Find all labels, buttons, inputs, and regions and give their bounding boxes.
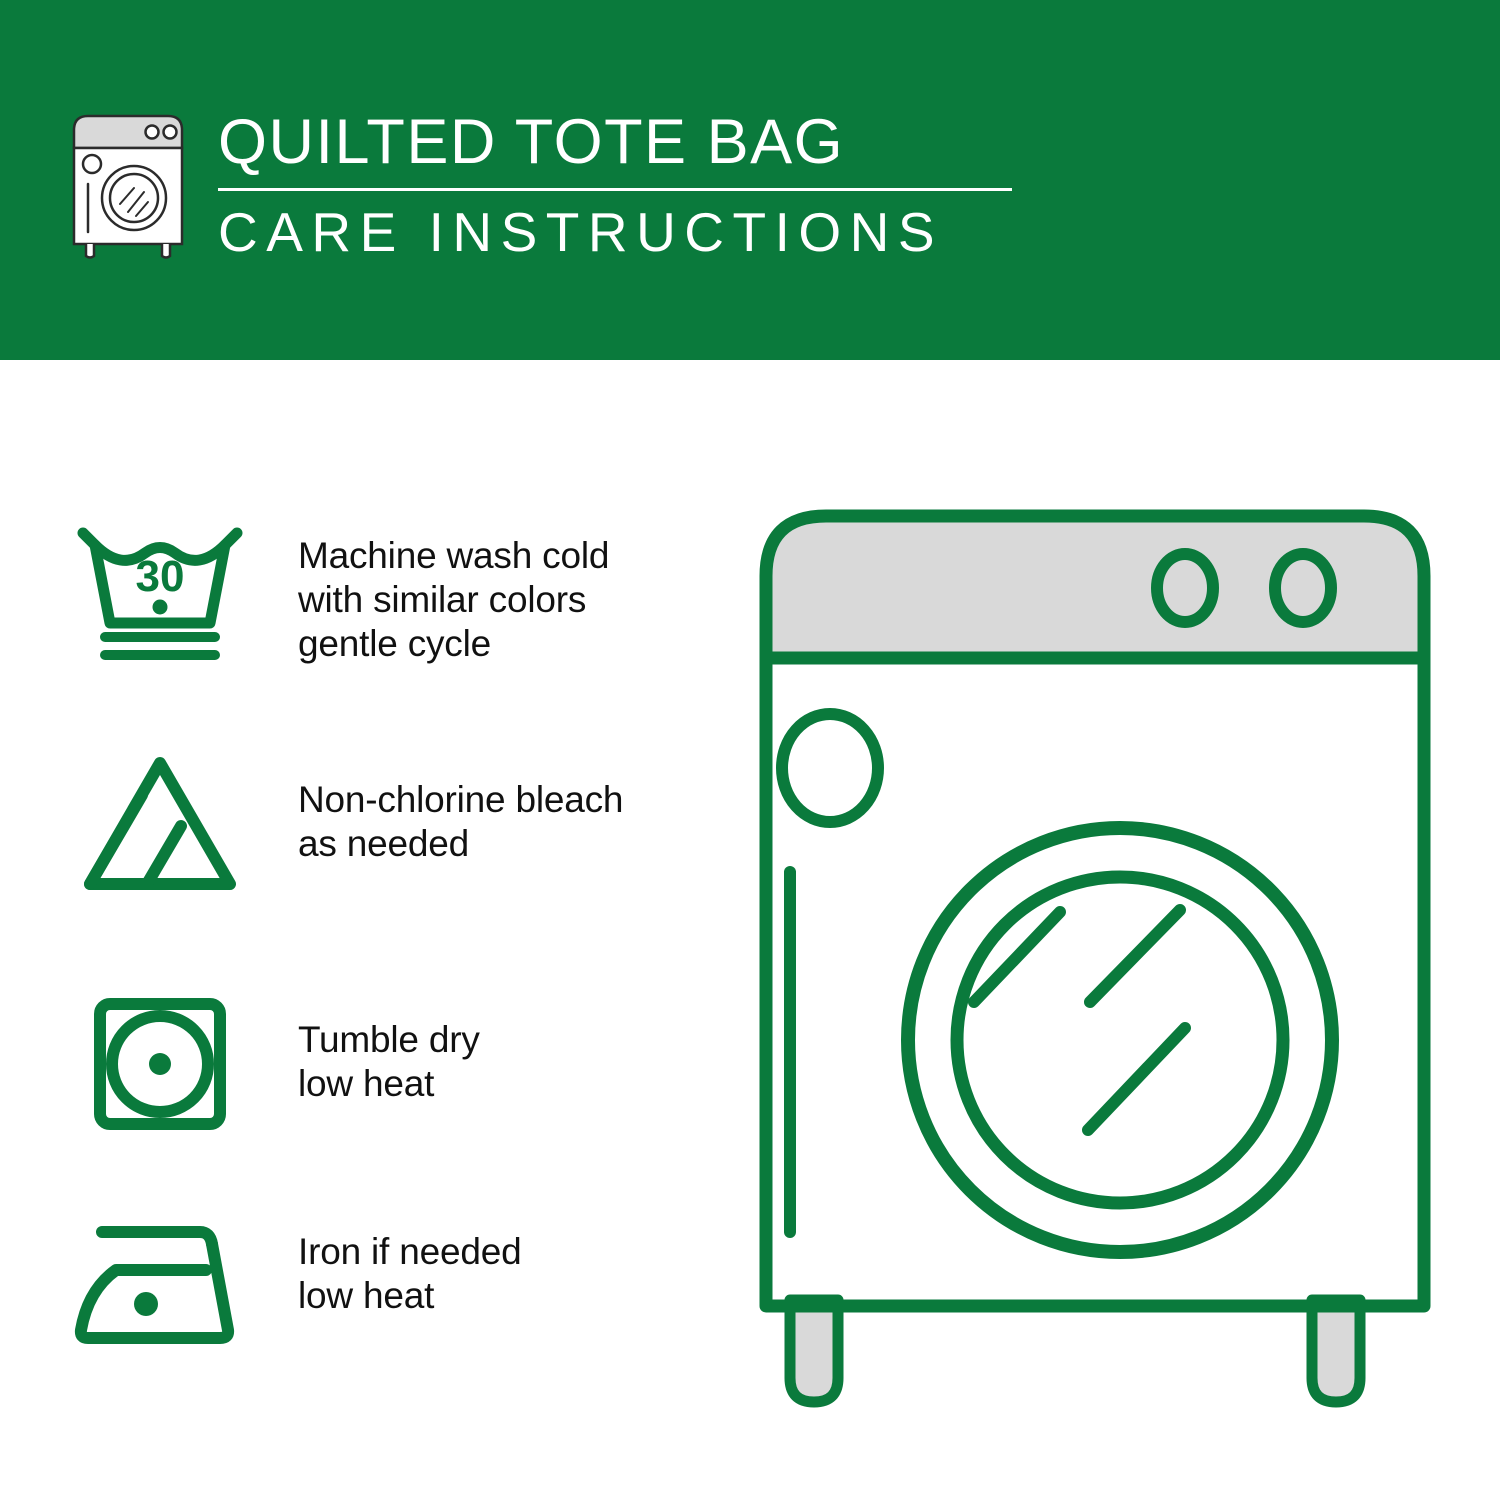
machine-wash-tub-icon: 30 [60,508,260,680]
page-header: QUILTED TOTE BAG CARE INSTRUCTIONS [0,0,1500,360]
detergent-dispenser [782,714,878,822]
non-chlorine-bleach-triangle-icon [60,738,260,910]
washing-machine-illustration [730,480,1460,1430]
care-line: Machine wash cold [298,534,609,578]
page-title: QUILTED TOTE BAG [218,106,1018,178]
care-instructions-page: QUILTED TOTE BAG CARE INSTRUCTIONS 30 [0,0,1500,1500]
care-line: low heat [298,1062,480,1106]
care-row-machine-wash: 30 Machine wash cold with similar colors… [0,508,720,680]
care-row-iron: Iron if needed low heat [0,1198,720,1370]
care-line: gentle cycle [298,622,609,666]
tumble-dry-icon [60,978,260,1150]
care-row-tumble-dry: Tumble dry low heat [0,978,720,1150]
iron-icon [60,1198,260,1370]
care-line: Iron if needed [298,1230,521,1274]
care-row-bleach: Non-chlorine bleach as needed [0,738,720,910]
care-line: Non-chlorine bleach [298,778,623,822]
leg-left [790,1300,838,1402]
care-label-machine-wash: Machine wash cold with similar colors ge… [298,534,609,666]
page-subtitle: CARE INSTRUCTIONS [218,199,1018,265]
title-divider [218,188,1012,191]
door-outer-ring [908,828,1332,1252]
door-inner-ring [957,877,1283,1203]
care-line: as needed [298,822,623,866]
care-line: low heat [298,1274,521,1318]
care-label-bleach: Non-chlorine bleach as needed [298,778,623,866]
care-label-tumble-dry: Tumble dry low heat [298,1018,480,1106]
care-line: Tumble dry [298,1018,480,1062]
wash-temp-value: 30 [136,552,185,601]
leg-right [1312,1300,1360,1402]
care-instructions-list: 30 Machine wash cold with similar colors… [0,360,720,1500]
door-shine-lines [974,910,1185,1130]
header-text-block: QUILTED TOTE BAG CARE INSTRUCTIONS [218,106,1018,265]
care-label-iron: Iron if needed low heat [298,1230,521,1318]
washing-machine-icon [64,108,192,260]
care-line: with similar colors [298,578,609,622]
